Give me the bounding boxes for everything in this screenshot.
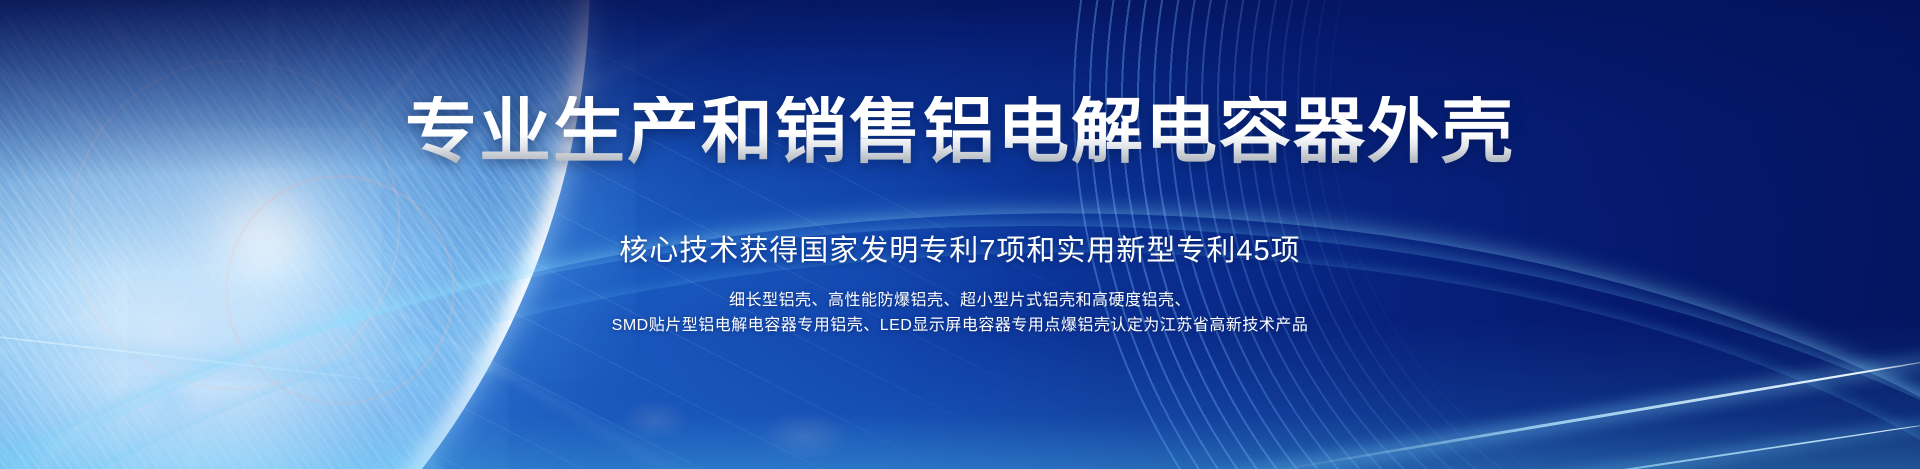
hero-banner: 专业生产和销售铝电解电容器外壳 核心技术获得国家发明专利7项和实用新型专利45项… — [0, 0, 1920, 469]
banner-description-line-2: SMD贴片型铝电解电容器专用铝壳、LED显示屏电容器专用点爆铝壳认定为江苏省高新… — [0, 313, 1920, 338]
banner-content: 专业生产和销售铝电解电容器外壳 核心技术获得国家发明专利7项和实用新型专利45项… — [0, 0, 1920, 469]
banner-description-line-1: 细长型铝壳、高性能防爆铝壳、超小型片式铝壳和高硬度铝壳、 — [0, 288, 1920, 313]
banner-description: 细长型铝壳、高性能防爆铝壳、超小型片式铝壳和高硬度铝壳、 SMD贴片型铝电解电容… — [0, 288, 1920, 338]
banner-headline: 专业生产和销售铝电解电容器外壳 — [0, 96, 1920, 168]
banner-subheadline: 核心技术获得国家发明专利7项和实用新型专利45项 — [0, 236, 1920, 268]
